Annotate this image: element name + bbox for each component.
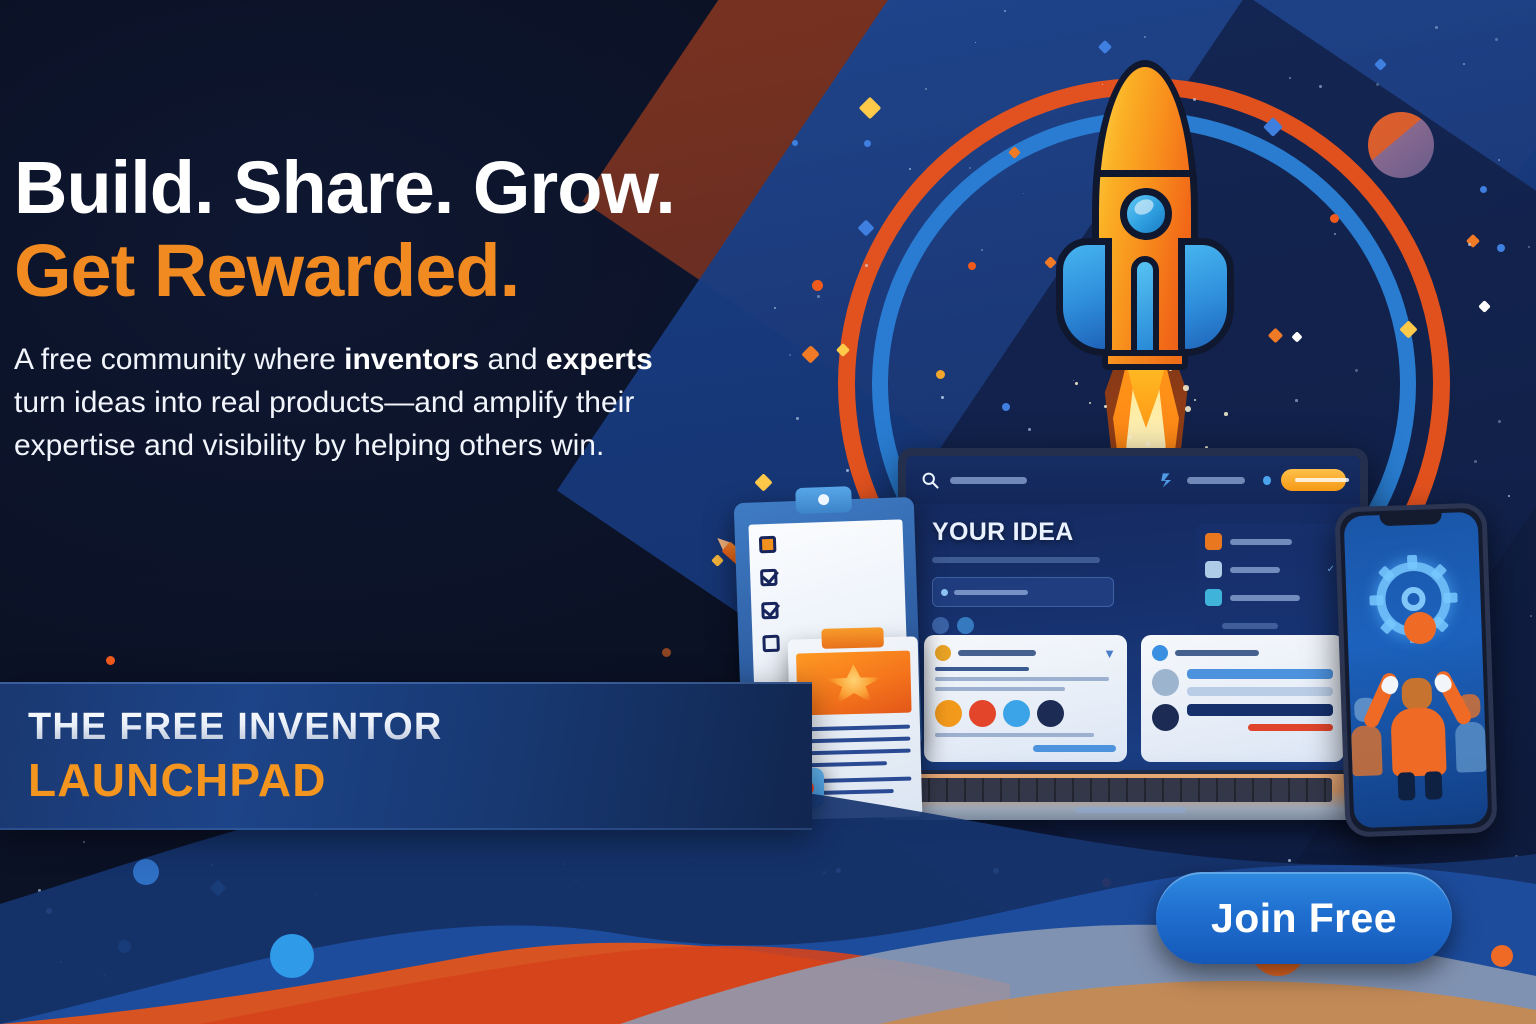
- topbar-cta-button[interactable]: [1281, 469, 1346, 491]
- screen-chip-2[interactable]: [957, 617, 974, 634]
- flame-spark: [1089, 402, 1091, 404]
- star-decoration: [1374, 58, 1387, 71]
- speck-decoration: [846, 469, 849, 472]
- sidebar-list-item[interactable]: ✓: [1205, 561, 1335, 578]
- avatar: [935, 700, 962, 727]
- subtext-bold-experts: experts: [546, 343, 653, 376]
- checklist-item[interactable]: [759, 532, 894, 554]
- star-decoration: [858, 220, 875, 237]
- document-card-tab: [821, 627, 884, 649]
- speck-decoration: [938, 848, 939, 849]
- star-decoration: [1466, 234, 1480, 248]
- hero-subtext: A free community where inventors and exp…: [14, 339, 704, 468]
- join-free-button[interactable]: Join Free: [1156, 872, 1452, 964]
- star-decoration: [1098, 40, 1112, 54]
- star-decoration: [1044, 256, 1057, 269]
- star-decoration: [1268, 328, 1284, 344]
- dot-decoration: [1480, 186, 1487, 193]
- star-decoration: [1399, 320, 1417, 338]
- speck-decoration: [823, 871, 826, 874]
- subtext-seg-2: and: [479, 343, 546, 376]
- screen-chip-1[interactable]: [932, 617, 949, 634]
- speck-decoration: [562, 862, 565, 865]
- checklist-item[interactable]: [761, 598, 896, 620]
- sidebar-list-item[interactable]: [1205, 533, 1335, 550]
- speck-decoration: [914, 963, 917, 966]
- subtext-seg-3: turn ideas into real products—and amplif…: [14, 386, 634, 462]
- dot-decoration: [968, 262, 976, 270]
- dot-decoration: [1102, 878, 1111, 887]
- dot-decoration: [1497, 244, 1505, 252]
- speck-decoration: [865, 264, 868, 267]
- topbar-search-placeholder[interactable]: [950, 477, 1027, 484]
- rocket-window-icon: [1120, 188, 1172, 240]
- celebrating-figure: [1368, 658, 1469, 801]
- speck-decoration: [975, 42, 976, 43]
- speck-decoration: [1144, 36, 1146, 38]
- avatar: [1152, 704, 1179, 731]
- speck-decoration: [925, 88, 927, 90]
- checklist-item[interactable]: [760, 565, 895, 587]
- speck-decoration: [83, 841, 85, 843]
- page-title: Build. Share. Grow. Get Rewarded.: [14, 150, 814, 309]
- star-decoration: [754, 473, 772, 491]
- phone-mockup: [1334, 502, 1497, 837]
- subtext-bold-inventors: inventors: [344, 343, 479, 376]
- screen-cards: ▼: [924, 635, 1344, 762]
- dot-decoration: [836, 868, 841, 873]
- star-decoration: [836, 343, 850, 357]
- banner-line-1: THE FREE INVENTOR: [28, 706, 812, 749]
- laptop-trackpad[interactable]: [1076, 807, 1186, 813]
- speck-decoration: [1515, 855, 1518, 858]
- star-decoration: [210, 880, 227, 897]
- avatar: [935, 645, 951, 661]
- planet-decoration: [1368, 112, 1434, 178]
- speck-decoration: [1028, 428, 1031, 431]
- speck-decoration: [60, 961, 62, 963]
- avatar: [1037, 700, 1064, 727]
- speck-decoration: [1247, 964, 1249, 966]
- dot-decoration: [792, 140, 798, 146]
- dot-decoration: [993, 868, 999, 874]
- dot-decoration: [936, 370, 945, 379]
- speck-decoration: [1528, 246, 1530, 248]
- flame-spark: [1128, 435, 1132, 439]
- tagline-banner: THE FREE INVENTOR LAUNCHPAD: [0, 682, 812, 830]
- screen-card-right[interactable]: [1141, 635, 1344, 762]
- star-emblem-icon: [824, 663, 883, 705]
- speck-decoration: [38, 889, 41, 892]
- dot-decoration: [106, 656, 115, 665]
- checkbox-icon[interactable]: [762, 635, 780, 653]
- speck-decoration: [630, 1002, 631, 1003]
- laptop-base: [876, 774, 1392, 820]
- speck-decoration: [1295, 399, 1298, 402]
- screen-hero-title: YOUR IDEA: [932, 518, 1132, 547]
- star-decoration: [620, 938, 633, 951]
- speck-decoration: [1495, 38, 1498, 41]
- screen-card-left[interactable]: ▼: [924, 635, 1127, 762]
- laptop-keyboard[interactable]: [912, 778, 1332, 802]
- checkbox-icon[interactable]: [760, 569, 778, 587]
- speck-decoration: [1334, 233, 1336, 235]
- star-decoration: [1291, 331, 1302, 342]
- speck-decoration: [498, 924, 499, 925]
- flame-spark: [1185, 406, 1191, 412]
- phone-notch: [1379, 509, 1441, 526]
- screen-hero-subtitle: [932, 557, 1100, 563]
- speck-decoration: [1498, 420, 1501, 423]
- laptop-mockup: YOUR IDEA: [898, 448, 1398, 838]
- user-badge-icon[interactable]: [1157, 470, 1177, 490]
- speck-decoration: [1355, 369, 1358, 372]
- avatar: [1003, 700, 1030, 727]
- speck-decoration: [969, 167, 971, 169]
- dot-decoration: [1330, 214, 1339, 223]
- dot-decoration: [306, 944, 315, 953]
- speck-decoration: [1023, 193, 1024, 194]
- dot-decoration: [46, 908, 52, 914]
- banner-line-2: LAUNCHPAD: [28, 753, 812, 807]
- avatar: [1152, 669, 1179, 696]
- subtext-seg-1: A free community where: [14, 343, 344, 376]
- speck-decoration: [909, 168, 911, 170]
- star-decoration: [1008, 146, 1021, 159]
- speck-decoration: [1376, 83, 1379, 86]
- rocket-icon: [1060, 60, 1230, 390]
- speck-decoration: [1530, 615, 1532, 617]
- speck-decoration: [931, 978, 933, 980]
- speck-decoration: [941, 396, 944, 399]
- headline-line-1: Build. Share. Grow.: [14, 150, 814, 225]
- speck-decoration: [103, 974, 106, 977]
- speck-decoration: [1319, 85, 1322, 88]
- search-icon[interactable]: [920, 470, 940, 490]
- check-icon: ✓: [1327, 564, 1335, 575]
- notification-dot: [1263, 476, 1270, 485]
- speck-decoration: [1004, 10, 1006, 12]
- speck-decoration: [211, 864, 213, 866]
- screen-search-input[interactable]: [932, 577, 1114, 607]
- dot-decoration: [118, 940, 131, 953]
- speck-decoration: [1463, 63, 1465, 65]
- dot-decoration: [572, 932, 590, 950]
- flame-spark: [1194, 399, 1196, 401]
- speck-decoration: [1474, 460, 1477, 463]
- screen-hero: YOUR IDEA: [932, 518, 1132, 634]
- sidebar-list-item[interactable]: [1205, 589, 1335, 606]
- speck-decoration: [575, 879, 577, 881]
- star-decoration: [711, 554, 724, 567]
- checkbox-icon[interactable]: [759, 536, 777, 554]
- speck-decoration: [1435, 26, 1438, 29]
- speck-decoration: [1288, 859, 1291, 862]
- topbar-account-label[interactable]: [1187, 477, 1246, 484]
- star-decoration: [859, 97, 882, 120]
- avatar: [969, 700, 996, 727]
- star-decoration: [1478, 300, 1491, 313]
- dot-decoration: [1450, 880, 1458, 888]
- sidebar-list-item[interactable]: [1205, 617, 1335, 634]
- speck-decoration: [695, 859, 696, 860]
- dot-decoration: [662, 648, 671, 657]
- speck-decoration: [817, 295, 820, 298]
- clipboard-clip: [795, 486, 852, 514]
- headline-line-2: Get Rewarded.: [14, 233, 814, 308]
- speck-decoration: [183, 980, 186, 983]
- hero-text-column: Build. Share. Grow. Get Rewarded. A free…: [14, 150, 814, 468]
- checkbox-icon[interactable]: [761, 602, 779, 620]
- speck-decoration: [316, 894, 318, 896]
- chevron-down-icon[interactable]: ▼: [1103, 647, 1116, 660]
- dot-decoration: [864, 140, 871, 147]
- flame-spark: [1145, 441, 1151, 447]
- star-decoration: [1263, 117, 1283, 137]
- dot-decoration: [1002, 403, 1010, 411]
- gear-icon: [1375, 561, 1452, 638]
- speck-decoration: [1468, 243, 1471, 246]
- flame-spark: [1224, 412, 1228, 416]
- avatar: [1152, 645, 1168, 661]
- speck-decoration: [1498, 159, 1500, 161]
- speck-decoration: [981, 249, 983, 251]
- promo-banner-canvas: YOUR IDEA: [0, 0, 1536, 1024]
- speck-decoration: [1289, 77, 1291, 79]
- speck-decoration: [1508, 495, 1510, 497]
- screen-sidebar-list: ✓: [1196, 524, 1344, 643]
- app-topbar: [906, 456, 1360, 504]
